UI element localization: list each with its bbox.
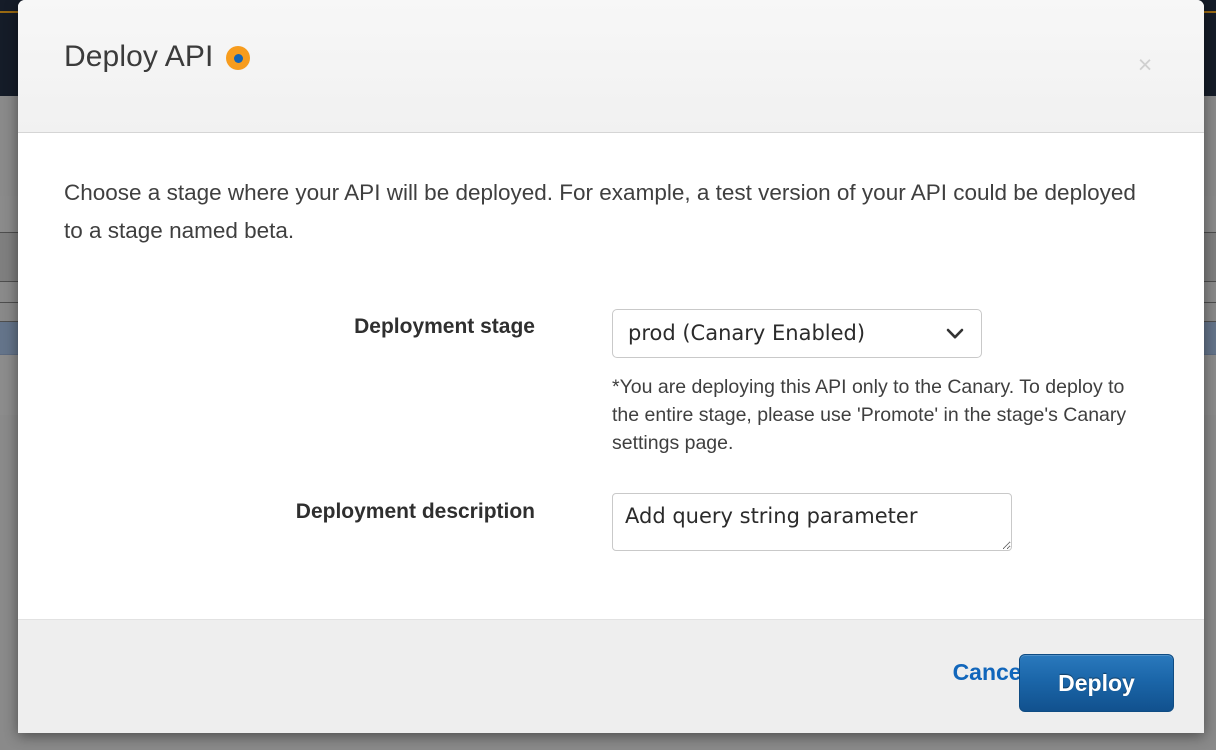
modal-header: Deploy API × <box>18 0 1204 133</box>
deployment-stage-label: Deployment stage <box>18 313 535 341</box>
deployment-stage-select[interactable]: prod (Canary Enabled) <box>612 309 982 358</box>
modal-title: Deploy API <box>64 40 250 74</box>
deploy-button[interactable]: Deploy <box>1019 654 1174 712</box>
deployment-description-label: Deployment description <box>18 498 535 526</box>
canary-note: *You are deploying this API only to the … <box>612 373 1132 457</box>
intro-text: Choose a stage where your API will be de… <box>64 174 1139 250</box>
close-icon[interactable]: × <box>1130 50 1160 80</box>
canary-circle-icon <box>226 46 250 70</box>
deploy-api-modal: Deploy API × Choose a stage where your A… <box>18 0 1204 733</box>
deployment-description-textarea[interactable] <box>612 493 1012 551</box>
modal-body: Choose a stage where your API will be de… <box>18 133 1204 619</box>
deployment-description-control <box>612 493 1012 551</box>
deployment-stage-control: prod (Canary Enabled) <box>612 309 982 358</box>
modal-title-text: Deploy API <box>64 40 213 74</box>
canary-dot <box>234 54 243 63</box>
screen: Deploy API × Choose a stage where your A… <box>0 0 1216 750</box>
modal-footer: Cancel Deploy <box>18 619 1204 733</box>
